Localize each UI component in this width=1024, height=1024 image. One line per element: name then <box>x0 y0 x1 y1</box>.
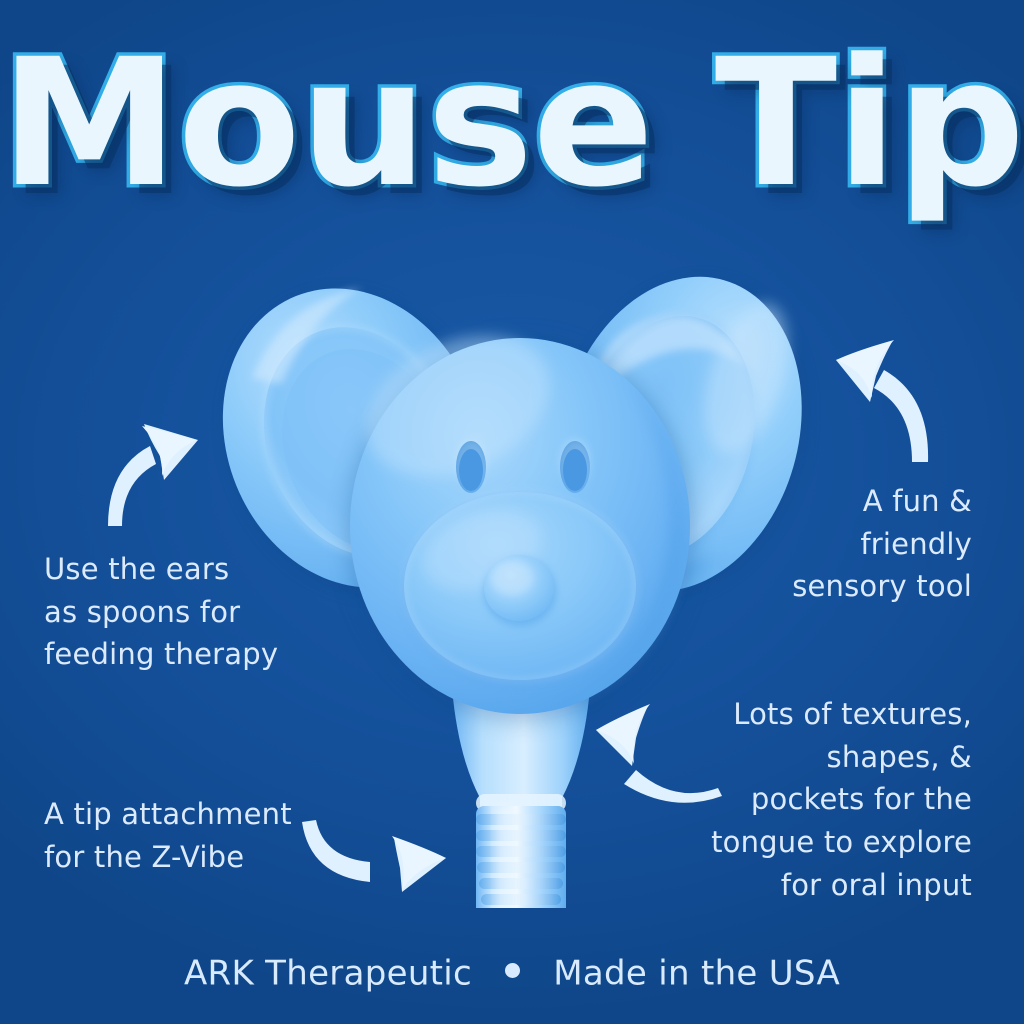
bullet-dot-icon <box>505 963 520 978</box>
callout-tip-attachment: A tip attachment for the Z-Vibe <box>44 793 344 878</box>
callout-fun-friendly: A fun & friendly sensory tool <box>702 480 972 608</box>
poster-canvas: Mouse Tip <box>0 0 1024 1024</box>
page-title: Mouse Tip <box>0 36 1024 212</box>
brand-name: ARK Therapeutic <box>184 954 472 994</box>
origin-label: Made in the USA <box>553 954 840 994</box>
threaded-stem-part <box>452 688 590 908</box>
footer-bar: ARK Therapeutic Made in the USA <box>0 952 1024 994</box>
snout-part <box>402 492 638 686</box>
title-block: Mouse Tip <box>0 36 1024 212</box>
callout-use-the-ears: Use the ears as spoons for feeding thera… <box>44 548 344 676</box>
callout-textures-pockets: Lots of textures, shapes, & pockets for … <box>672 693 972 906</box>
